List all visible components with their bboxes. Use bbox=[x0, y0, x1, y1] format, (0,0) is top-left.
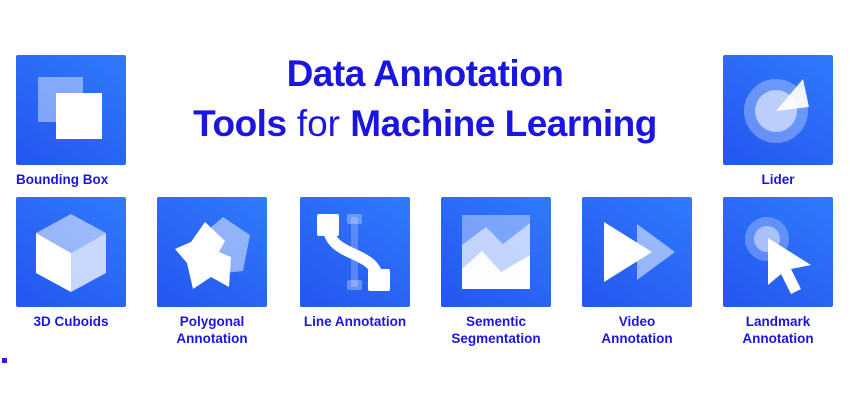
tile-bounding-box[interactable]: Bounding Box bbox=[16, 55, 126, 189]
curve-line-icon bbox=[300, 197, 410, 307]
segmentation-layers-icon bbox=[441, 197, 551, 307]
cube-icon bbox=[16, 197, 126, 307]
double-play-icon bbox=[582, 197, 692, 307]
cursor-point-icon bbox=[723, 197, 833, 307]
tile-label-video-annotation: Video Annotation bbox=[582, 314, 692, 348]
tile-label-sementic-segmentation: Sementic Segmentation bbox=[441, 314, 551, 348]
tile-icon-frame bbox=[300, 197, 410, 307]
corner-artifact-mark bbox=[2, 358, 7, 363]
tile-icon-frame bbox=[16, 55, 126, 165]
lidar-radar-icon bbox=[723, 55, 833, 165]
title-for-word: for bbox=[287, 103, 351, 144]
tile-label-landmark-annotation: Landmark Annotation bbox=[723, 314, 833, 348]
tile-lidar[interactable]: Lider bbox=[723, 55, 833, 189]
page-title: Data Annotation Tools for Machine Learni… bbox=[160, 52, 690, 145]
tile-polygonal-annotation[interactable]: Polygonal Annotation bbox=[157, 197, 267, 348]
tile-label-polygonal-annotation: Polygonal Annotation bbox=[157, 314, 267, 348]
tile-icon-frame bbox=[582, 197, 692, 307]
tile-line-annotation[interactable]: Line Annotation bbox=[300, 197, 410, 331]
tile-sementic-segmentation[interactable]: Sementic Segmentation bbox=[441, 197, 551, 348]
polygon-icon bbox=[157, 197, 267, 307]
infographic-canvas: Data Annotation Tools for Machine Learni… bbox=[0, 0, 850, 400]
tile-label-bounding-box: Bounding Box bbox=[16, 172, 126, 189]
title-machine-learning-words: Machine Learning bbox=[350, 103, 657, 144]
tile-icon-frame bbox=[723, 55, 833, 165]
title-line-1: Data Annotation bbox=[160, 52, 690, 96]
tile-icon-frame bbox=[157, 197, 267, 307]
title-tools-word: Tools bbox=[193, 103, 286, 144]
tile-label-line-annotation: Line Annotation bbox=[300, 314, 410, 331]
tile-3d-cuboids[interactable]: 3D Cuboids bbox=[16, 197, 126, 331]
tile-label-3d-cuboids: 3D Cuboids bbox=[16, 314, 126, 331]
tile-icon-frame bbox=[441, 197, 551, 307]
tile-landmark-annotation[interactable]: Landmark Annotation bbox=[723, 197, 833, 348]
title-line-2: Tools for Machine Learning bbox=[160, 102, 690, 146]
tile-icon-frame bbox=[16, 197, 126, 307]
tile-label-lidar: Lider bbox=[723, 172, 833, 189]
tile-video-annotation[interactable]: Video Annotation bbox=[582, 197, 692, 348]
tile-icon-frame bbox=[723, 197, 833, 307]
bounding-box-icon bbox=[16, 55, 126, 165]
